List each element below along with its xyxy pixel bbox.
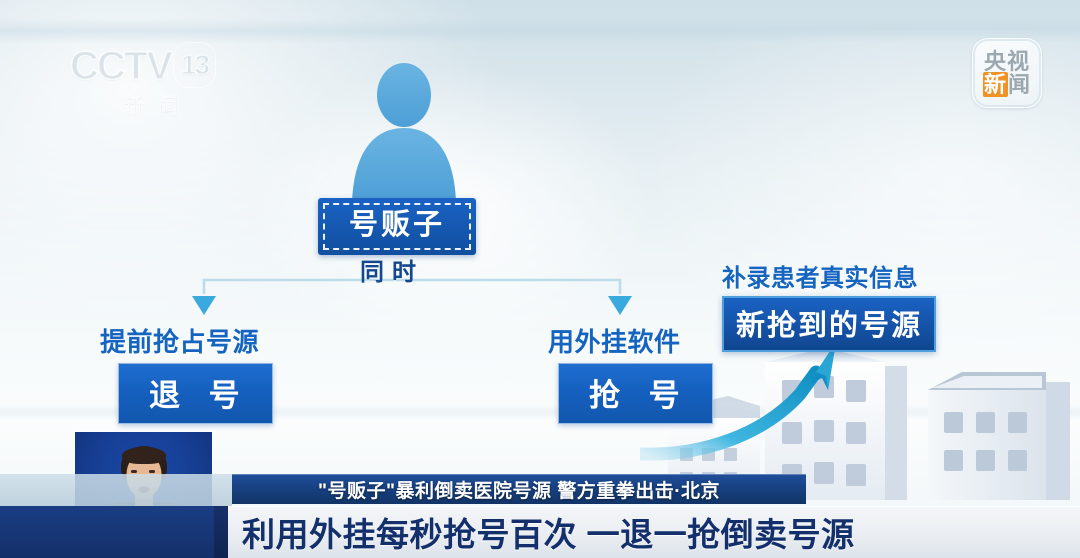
scalper-chip: 号贩子 [318, 198, 476, 255]
branch-left-chip: 退 号 [118, 363, 273, 424]
interpreter-fringe [122, 447, 166, 464]
cctv-logo-text: CCTV [70, 44, 171, 88]
headline-top-text: "号贩子"暴利倒卖医院号源 警方重拳出击·北京 [318, 476, 720, 503]
arrow-down-icon [192, 296, 216, 315]
headline-bottom-text: 利用外挂每秒抢号百次 一退一抢倒卖号源 [228, 508, 855, 556]
outcome-caption: 补录患者真实信息 [722, 258, 936, 293]
branch-right-chip: 抢 号 [558, 363, 713, 424]
cctv13-logo: CCTV13 新闻 [70, 42, 235, 110]
node-branch-pre-grab: 提前抢占号源 退 号 [100, 322, 273, 424]
person-silhouette-icon [340, 62, 468, 202]
badge-line-two-rest: 闻 [1008, 72, 1031, 97]
lower-third-left-accent [0, 506, 214, 558]
cctv-logo-subtitle: 新闻 [70, 90, 235, 120]
arrow-down-icon [608, 296, 632, 315]
banner-accent-bar [214, 506, 228, 558]
headline-banner-top: "号贩子"暴利倒卖医院号源 警方重拳出击·北京 [232, 474, 806, 504]
outcome-chip: 新抢到的号源 [722, 296, 936, 352]
node-outcome-new-slot: 补录患者真实信息 新抢到的号源 [722, 258, 936, 352]
scalper-chip-label: 号贩子 [323, 203, 471, 250]
interpreter-eye-right [149, 470, 155, 473]
headline-banner-bottom: 利用外挂每秒抢号百次 一退一抢倒卖号源 [214, 506, 1080, 558]
lower-third-left-fill [0, 474, 232, 506]
node-branch-bot-software: 用外挂软件 抢 号 [548, 322, 713, 424]
node-ticket-scalper: 号贩子 [318, 198, 476, 255]
branch-left-caption: 提前抢占号源 [100, 322, 273, 359]
interpreter-eye-left [131, 470, 137, 473]
simultaneous-label: 同时 [360, 252, 424, 287]
badge-line-two-highlight: 新 [983, 72, 1008, 97]
branch-right-caption: 用外挂软件 [548, 322, 713, 359]
cctv-logo-number: 13 [173, 42, 216, 88]
background-band-top [0, 18, 1080, 44]
cctv-news-badge: 央视 新闻 [972, 38, 1042, 108]
badge-line-one: 央视 [984, 50, 1030, 73]
broadcast-screen: CCTV13 新闻 央视 新闻 号贩子 [0, 0, 1080, 558]
